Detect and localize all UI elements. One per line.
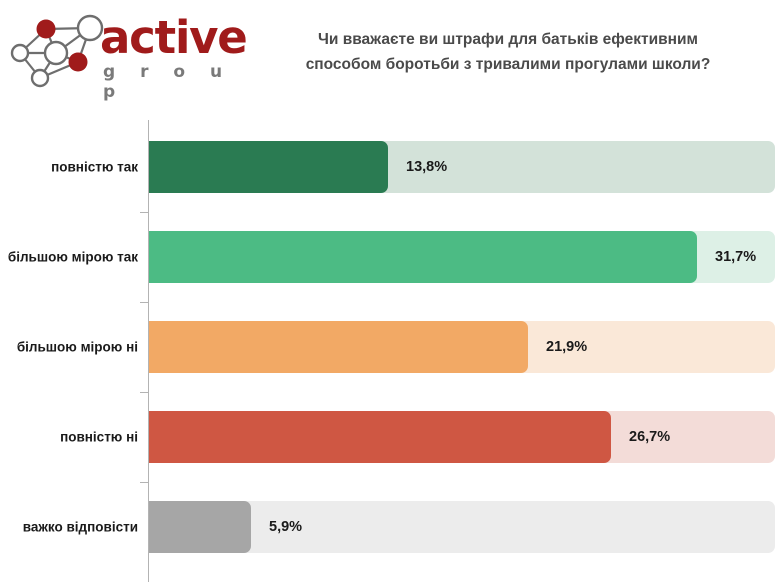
bar-row: повністю ні26,7% [0, 392, 780, 482]
bar-value-label: 31,7% [715, 249, 756, 265]
category-label: важко відповісти [23, 520, 138, 535]
bar-value-label: 5,9% [269, 519, 302, 535]
bar-value-label: 21,9% [546, 339, 587, 355]
brand-logo: active g r o u p [8, 6, 254, 94]
chart-title: Чи вважаєте ви штрафи для батьків ефекти… [258, 27, 758, 77]
bar-row: повністю так13,8% [0, 122, 780, 212]
category-label: повністю ні [60, 430, 138, 445]
bar-row: важко відповісти5,9% [0, 482, 780, 572]
brand-name-secondary: g r o u p [103, 62, 252, 102]
chart-header: active g r o u p Чи вважаєте ви штрафи д… [0, 0, 780, 104]
chart-title-line-2: способом боротьби з тривалими прогулами … [258, 52, 758, 77]
bar-chart-plot-area: повністю так13,8%більшою мірою так31,7%б… [0, 104, 780, 585]
bar-value-label: 13,8% [406, 159, 447, 175]
chart-title-line-1: Чи вважаєте ви штрафи для батьків ефекти… [258, 27, 758, 52]
bar-row: більшою мірою ні21,9% [0, 302, 780, 392]
bar-fill[interactable] [149, 411, 611, 463]
category-label: більшою мірою так [8, 250, 138, 265]
bar-fill[interactable] [149, 231, 697, 283]
category-label: повністю так [51, 160, 138, 175]
bar-fill[interactable] [149, 501, 251, 553]
category-label: більшою мірою ні [17, 340, 138, 355]
network-graph-icon [8, 6, 104, 92]
bar-row: більшою мірою так31,7% [0, 212, 780, 302]
bar-value-label: 26,7% [629, 429, 670, 445]
bar-fill[interactable] [149, 321, 528, 373]
brand-wordmark: active g r o u p [100, 14, 252, 90]
bar-fill[interactable] [149, 141, 388, 193]
brand-name-primary: active [100, 14, 247, 62]
